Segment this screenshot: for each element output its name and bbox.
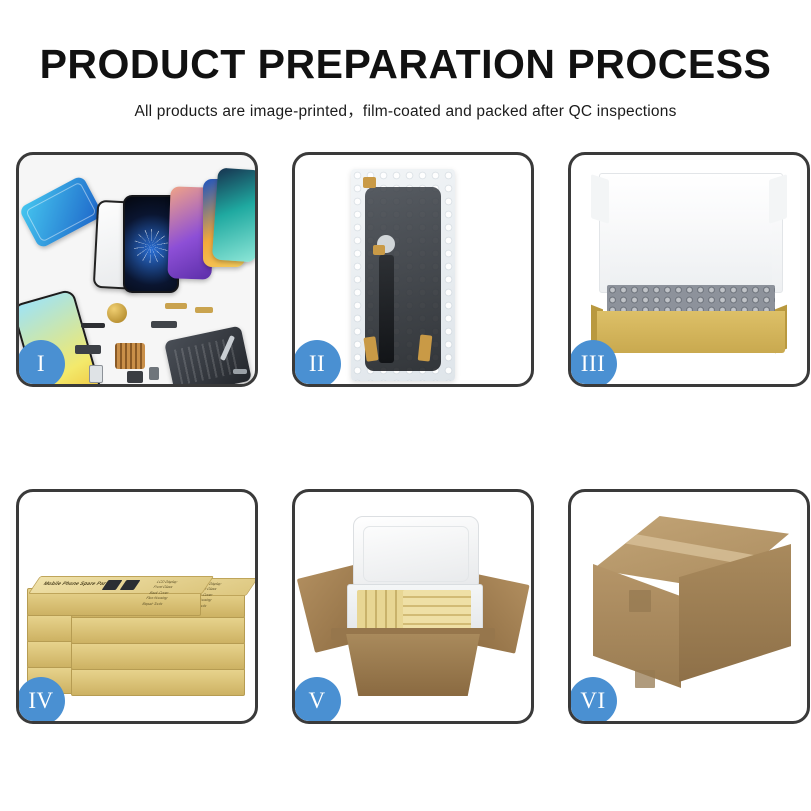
part-flex-cable-icon bbox=[151, 321, 177, 328]
step-panel-6: VI bbox=[568, 489, 810, 724]
bubble-wrap-bag-icon bbox=[351, 169, 455, 381]
step-numeral-1: I bbox=[37, 351, 45, 377]
step-badge-6: VI bbox=[569, 677, 617, 724]
part-screw-set-icon bbox=[233, 369, 247, 374]
page-title: PRODUCT PREPARATION PROCESS bbox=[0, 44, 811, 85]
box-spec-lines: LCD Display Front Glass Back Cover Flex … bbox=[140, 580, 179, 607]
kraft-box-front-icon bbox=[597, 311, 785, 353]
part-speaker-icon bbox=[149, 367, 159, 380]
retail-box-top: Mobile Phone Spare Parts LCD Display Fro… bbox=[27, 588, 201, 616]
step-numeral-6: VI bbox=[580, 688, 605, 714]
part-camera-icon bbox=[127, 371, 143, 383]
foam-box-lid-icon bbox=[353, 516, 479, 592]
part-connector-icon bbox=[81, 323, 105, 328]
step-badge-5: V bbox=[293, 677, 341, 724]
product-preparation-infographic: PRODUCT PREPARATION PROCESS All products… bbox=[0, 0, 811, 811]
retail-box bbox=[71, 616, 245, 644]
step-numeral-2: II bbox=[309, 351, 325, 377]
step-badge-2: II bbox=[293, 340, 341, 387]
step-panel-5: V bbox=[292, 489, 534, 724]
process-steps-grid: I II bbox=[16, 152, 795, 724]
box-label-text: Mobile Phone Spare Parts bbox=[42, 581, 113, 587]
box-flap-left-icon bbox=[591, 174, 609, 224]
step-numeral-4: IV bbox=[28, 688, 53, 714]
step-panel-3: III bbox=[568, 152, 810, 387]
page-subtitle: All products are image-printed，film-coat… bbox=[0, 99, 811, 121]
carton-tape-patch-icon bbox=[629, 590, 651, 612]
step-numeral-5: V bbox=[308, 688, 325, 714]
header: PRODUCT PREPARATION PROCESS All products… bbox=[0, 0, 811, 121]
part-coil-icon bbox=[107, 303, 127, 323]
step-badge-4: IV bbox=[17, 677, 65, 724]
step-badge-3: III bbox=[569, 340, 617, 387]
retail-box bbox=[71, 642, 245, 670]
tape-tab-icon bbox=[373, 245, 385, 255]
carton-tape-patch-icon bbox=[635, 670, 655, 688]
part-bracket-icon bbox=[75, 345, 101, 354]
tape-tab-icon bbox=[363, 177, 376, 188]
part-gold-contact-icon bbox=[165, 303, 187, 309]
retail-box bbox=[71, 668, 245, 696]
box-flap-right-icon bbox=[769, 174, 787, 224]
step-panel-2: II bbox=[292, 152, 534, 387]
step-numeral-3: III bbox=[581, 351, 605, 377]
phone-internals-icon bbox=[164, 326, 252, 384]
box-stack: Mobile Phone Spare Parts LCD Display Fro… bbox=[25, 514, 247, 710]
carton-front-icon bbox=[337, 634, 489, 696]
packed-retail-boxes-icon bbox=[403, 590, 471, 632]
box-lid-icon bbox=[599, 173, 783, 293]
step-panel-1: I bbox=[16, 152, 258, 387]
step-badge-1: I bbox=[17, 340, 65, 387]
phone-screen-blue-icon bbox=[19, 175, 104, 249]
part-chip-grid-icon bbox=[115, 343, 145, 369]
step-panel-4: Mobile Phone Spare Parts LCD Display Fro… bbox=[16, 489, 258, 724]
retail-box-lid: Mobile Phone Spare Parts LCD Display Fro… bbox=[28, 576, 214, 594]
part-sim-tray-icon bbox=[89, 365, 103, 383]
box-screen-image-icon bbox=[120, 580, 141, 590]
phone-screen-teal-icon bbox=[212, 168, 255, 263]
part-gold-strip-icon bbox=[195, 307, 213, 313]
flex-cable-icon bbox=[379, 255, 394, 363]
bubble-wrap-contents-icon bbox=[607, 285, 775, 313]
